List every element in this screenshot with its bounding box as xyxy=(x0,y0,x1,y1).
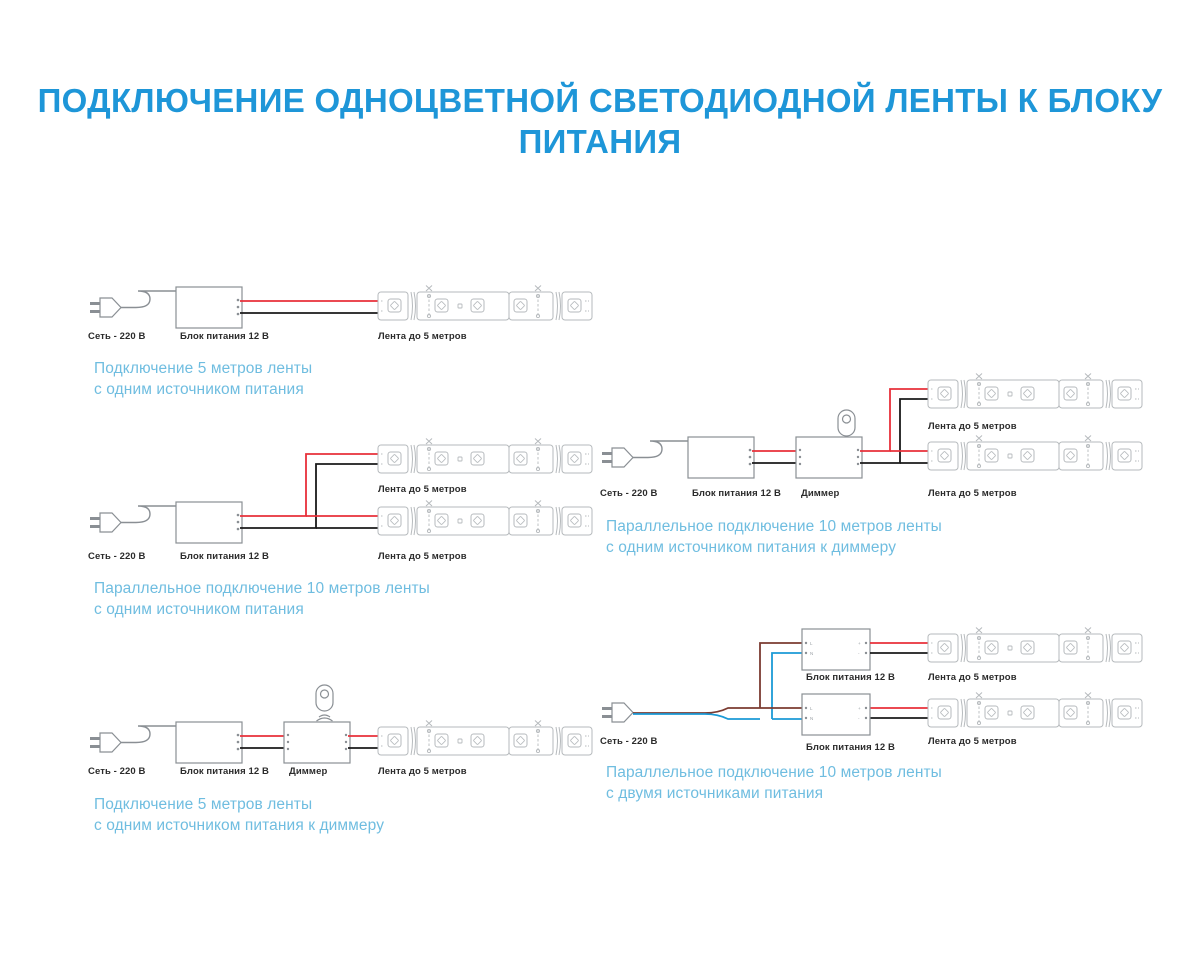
power-supply: L N + - xyxy=(802,629,870,670)
diagram-2 xyxy=(88,440,568,550)
label-mains: Сеть - 220 В xyxy=(600,736,658,747)
label-mains: Сеть - 220 В xyxy=(88,766,146,777)
label-strip: Лента до 5 метров xyxy=(378,766,467,777)
strip-segment xyxy=(1059,436,1103,471)
diagram-5-caption: Параллельное подключение 10 метров ленты… xyxy=(606,762,942,804)
strip-segment xyxy=(417,439,509,474)
power-supply xyxy=(176,287,242,328)
ac-split-wires xyxy=(633,643,802,719)
strip-segment xyxy=(967,693,1059,728)
led-strip xyxy=(378,501,592,536)
led-strip xyxy=(378,721,592,756)
diagram-4-caption: Параллельное подключение 10 метров ленты… xyxy=(606,516,942,558)
strip-segment xyxy=(928,699,958,727)
strip-segment xyxy=(562,507,592,535)
label-strip: Лента до 5 метров xyxy=(928,421,1017,432)
power-supply xyxy=(176,502,242,543)
power-supply xyxy=(688,437,754,478)
strip-segment xyxy=(417,721,509,756)
label-psu: Блок питания 12 В xyxy=(180,766,269,777)
strip-segment xyxy=(928,380,958,408)
strip-segment xyxy=(1112,380,1142,408)
strip-segment xyxy=(967,628,1059,663)
svg-text:N: N xyxy=(810,651,813,656)
strip-segment xyxy=(378,727,408,755)
strip-segment xyxy=(967,436,1059,471)
strip-segment xyxy=(1059,374,1103,409)
page-title: ПОДКЛЮЧЕНИЕ ОДНОЦВЕТНОЙ СВЕТОДИОДНОЙ ЛЕН… xyxy=(0,80,1200,162)
led-strip xyxy=(928,628,1142,663)
strip-segment xyxy=(509,439,553,474)
dimmer-branch-wires xyxy=(860,389,930,463)
led-strip xyxy=(378,439,592,474)
psu-to-dimmer-wires xyxy=(240,736,284,748)
label-psu: Блок питания 12 В xyxy=(180,331,269,342)
label-psu: Блок питания 12 В xyxy=(806,742,895,753)
strip-segment xyxy=(562,727,592,755)
diagram-4 xyxy=(600,375,1100,485)
dc-wires xyxy=(240,454,380,528)
diagram-3 xyxy=(88,685,568,765)
label-strip: Лента до 5 метров xyxy=(928,672,1017,683)
diagram-1 xyxy=(88,285,568,335)
svg-text:N: N xyxy=(810,716,813,721)
diagram-5: L N + - L N + - xyxy=(600,625,1100,755)
strip-segment xyxy=(417,286,509,321)
strip-segment xyxy=(928,442,958,470)
label-strip: Лента до 5 метров xyxy=(378,484,467,495)
label-strip: Лента до 5 метров xyxy=(378,331,467,342)
strip-segment xyxy=(378,507,408,535)
power-supply: L N + - xyxy=(802,694,870,735)
psu-to-dimmer-wires xyxy=(752,451,796,463)
label-strip: Лента до 5 метров xyxy=(928,488,1017,499)
strip-segment xyxy=(1112,699,1142,727)
led-strip xyxy=(378,286,592,321)
strip-segment xyxy=(1112,634,1142,662)
led-strip xyxy=(928,693,1142,728)
label-mains: Сеть - 220 В xyxy=(600,488,658,499)
mains-plug xyxy=(90,726,176,752)
label-dimmer: Диммер xyxy=(289,766,327,777)
strip-segment xyxy=(417,501,509,536)
strip-segment xyxy=(967,374,1059,409)
mains-plug xyxy=(602,703,633,722)
label-psu: Блок питания 12 В xyxy=(692,488,781,499)
svg-text:+: + xyxy=(858,706,861,711)
strip-segment xyxy=(928,634,958,662)
label-mains: Сеть - 220 В xyxy=(88,331,146,342)
strip-segment xyxy=(378,445,408,473)
strip-segment xyxy=(562,445,592,473)
mains-plug xyxy=(602,441,688,467)
diagram-1-caption: Подключение 5 метров ленты с одним источ… xyxy=(94,358,312,400)
strip-segment xyxy=(509,501,553,536)
label-mains: Сеть - 220 В xyxy=(88,551,146,562)
svg-text:+: + xyxy=(858,641,861,646)
led-strip xyxy=(928,436,1142,471)
strip-segment xyxy=(378,292,408,320)
dimmer xyxy=(796,437,862,478)
label-psu: Блок питания 12 В xyxy=(180,551,269,562)
mains-plug xyxy=(90,291,176,317)
mains-plug xyxy=(90,506,176,532)
strip-segment xyxy=(1112,442,1142,470)
strip-segment xyxy=(509,286,553,321)
strip-segment xyxy=(1059,628,1103,663)
strip-segment xyxy=(509,721,553,756)
strip-segment xyxy=(562,292,592,320)
strip-segment xyxy=(1059,693,1103,728)
dimmer xyxy=(284,722,350,763)
led-strip xyxy=(928,374,1142,409)
power-supply xyxy=(176,722,242,763)
label-strip: Лента до 5 метров xyxy=(928,736,1017,747)
remote-control-icon xyxy=(316,685,333,721)
dc-wires xyxy=(240,301,380,313)
label-strip: Лента до 5 метров xyxy=(378,551,467,562)
label-dimmer: Диммер xyxy=(801,488,839,499)
diagram-2-caption: Параллельное подключение 10 метров ленты… xyxy=(94,578,430,620)
diagram-3-caption: Подключение 5 метров ленты с одним источ… xyxy=(94,794,384,836)
label-psu: Блок питания 12 В xyxy=(806,672,895,683)
dimmer-to-strip-wires xyxy=(348,736,380,748)
